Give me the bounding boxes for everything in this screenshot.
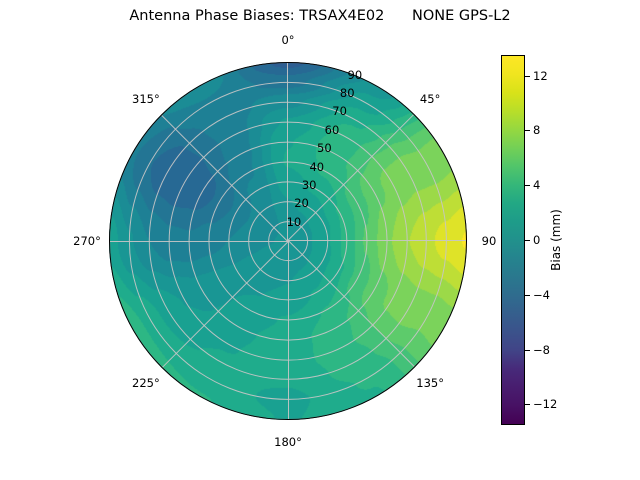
colorbar-axis-label: Bias (mm) <box>549 209 563 271</box>
azimuth-gridline-270 <box>109 241 288 242</box>
radial-tick-80: 80 <box>340 86 355 100</box>
azimuth-tick-45: 45° <box>420 92 440 106</box>
azimuth-gridline-180 <box>288 241 289 420</box>
colorbar-tick-label-12: 12 <box>533 69 548 83</box>
radial-tick-60: 60 <box>325 123 340 137</box>
radial-tick-10: 10 <box>287 215 302 229</box>
colorbar-tick-label--12: −12 <box>533 397 557 411</box>
colorbar-gradient <box>501 55 525 425</box>
polar-axes[interactable]: 102030405060708090 <box>109 62 467 420</box>
colorbar-tick-mark--12 <box>525 404 530 405</box>
azimuth-tick-135: 135° <box>416 376 444 390</box>
colorbar-tick-label--4: −4 <box>533 288 550 302</box>
colorbar-tick-mark--8 <box>525 350 530 351</box>
colorbar-tick-label-4: 4 <box>533 178 540 192</box>
radial-tick-40: 40 <box>309 160 324 174</box>
figure-canvas: Antenna Phase Biases: TRSAX4E02 NONE GPS… <box>0 0 640 480</box>
azimuth-gridline-90 <box>288 240 467 241</box>
azimuth-tick-90: 90 <box>482 234 497 248</box>
page-title: Antenna Phase Biases: TRSAX4E02 NONE GPS… <box>0 8 640 24</box>
polar-data-surface <box>109 62 467 420</box>
azimuth-tick-315: 315° <box>132 92 160 106</box>
polar-gridlines <box>109 62 467 420</box>
radial-tick-70: 70 <box>332 104 347 118</box>
colorbar-tick-label--8: −8 <box>533 343 550 357</box>
azimuth-tick-180: 180° <box>274 435 302 449</box>
radial-tick-30: 30 <box>302 178 317 192</box>
radial-tick-20: 20 <box>294 196 309 210</box>
radial-tick-90: 90 <box>348 68 363 82</box>
radial-tick-50: 50 <box>317 141 332 155</box>
colorbar-tick-mark-4 <box>525 185 530 186</box>
azimuth-tick-270: 270° <box>73 234 101 248</box>
colorbar-tick-label-0: 0 <box>533 233 540 247</box>
colorbar-tick-mark-0 <box>525 240 530 241</box>
colorbar[interactable]: 12840−4−8−12 <box>501 55 525 425</box>
colorbar-tick-label-8: 8 <box>533 123 540 137</box>
azimuth-tick-0: 0° <box>281 33 294 47</box>
colorbar-tick-mark-8 <box>525 130 530 131</box>
colorbar-tick-mark--4 <box>525 295 530 296</box>
colorbar-tick-mark-12 <box>525 76 530 77</box>
azimuth-tick-225: 225° <box>132 376 160 390</box>
